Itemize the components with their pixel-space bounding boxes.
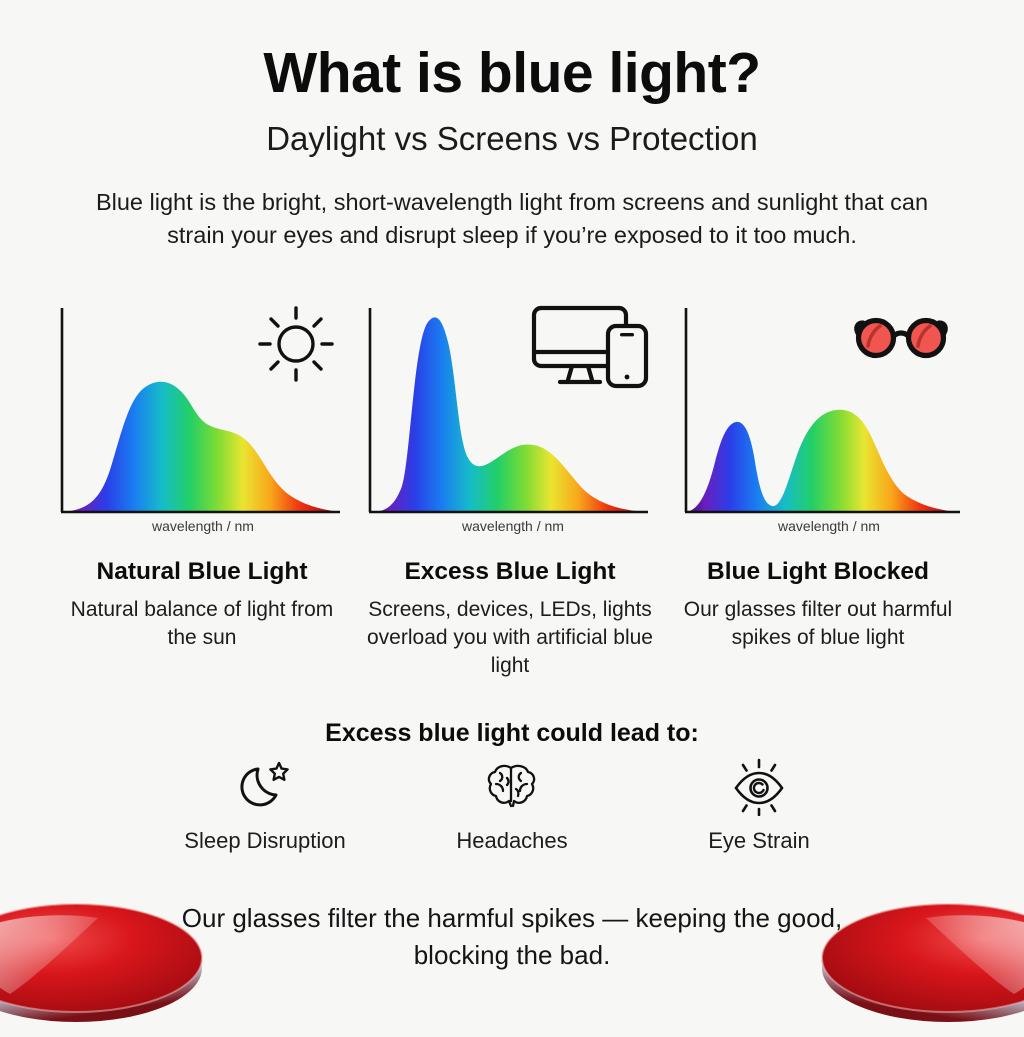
x-axis-label: wavelength / nm: [368, 518, 658, 534]
panel-excess: wavelength / nm Excess Blue Light Screen…: [356, 296, 664, 686]
brain-icon: [397, 756, 627, 818]
effect-label: Eye Strain: [644, 828, 874, 854]
red-lens-left: [0, 882, 208, 1032]
effects-list: Sleep Disruption Headaches: [150, 756, 874, 866]
lens-highlight: [926, 915, 1024, 994]
moon-star-icon: [150, 756, 380, 818]
panel-desc-blocked: Our glasses filter out harmful spikes of…: [670, 596, 966, 652]
page-subtitle: Daylight vs Screens vs Protection: [0, 120, 1024, 158]
red-glasses-icon: [850, 314, 952, 367]
panel-desc-natural: Natural balance of light from the sun: [54, 596, 350, 652]
x-axis-label: wavelength / nm: [684, 518, 974, 534]
page-title: What is blue light?: [0, 44, 1024, 104]
footer-text: Our glasses filter the harmful spikes — …: [180, 900, 844, 974]
red-lens-right: [816, 882, 1024, 1032]
monitor-phone-icon: [528, 300, 656, 397]
eye-strain-icon: [644, 756, 874, 818]
lens-highlight: [0, 915, 98, 994]
intro-paragraph: Blue light is the bright, short-waveleng…: [72, 186, 952, 253]
x-axis-label: wavelength / nm: [58, 518, 348, 534]
natural-spectrum-area: [62, 382, 340, 512]
panel-title-natural: Natural Blue Light: [48, 558, 356, 586]
effect-eye-strain: Eye Strain: [644, 756, 874, 854]
glasses-lenses: [859, 321, 943, 355]
sun-icon: [254, 302, 338, 391]
effect-headaches: Headaches: [397, 756, 627, 854]
effect-label: Sleep Disruption: [150, 828, 380, 854]
effect-sleep-disruption: Sleep Disruption: [150, 756, 380, 854]
panel-desc-excess: Screens, devices, LEDs, lights overload …: [362, 596, 658, 680]
effects-heading: Excess blue light could lead to:: [0, 719, 1024, 748]
infographic-root: What is blue light? Daylight vs Screens …: [0, 0, 1024, 1024]
panel-blocked: wavelength / nm Blue Light Blocked Our g…: [664, 296, 972, 686]
panel-title-excess: Excess Blue Light: [356, 558, 664, 586]
panel-title-blocked: Blue Light Blocked: [664, 558, 972, 586]
spectrum-panels: wavelength / nm Natural Blue Light Natur…: [0, 296, 1024, 686]
panel-natural: wavelength / nm Natural Blue Light Natur…: [48, 296, 356, 686]
blocked-spectrum-area: [686, 410, 960, 512]
effect-label: Headaches: [397, 828, 627, 854]
